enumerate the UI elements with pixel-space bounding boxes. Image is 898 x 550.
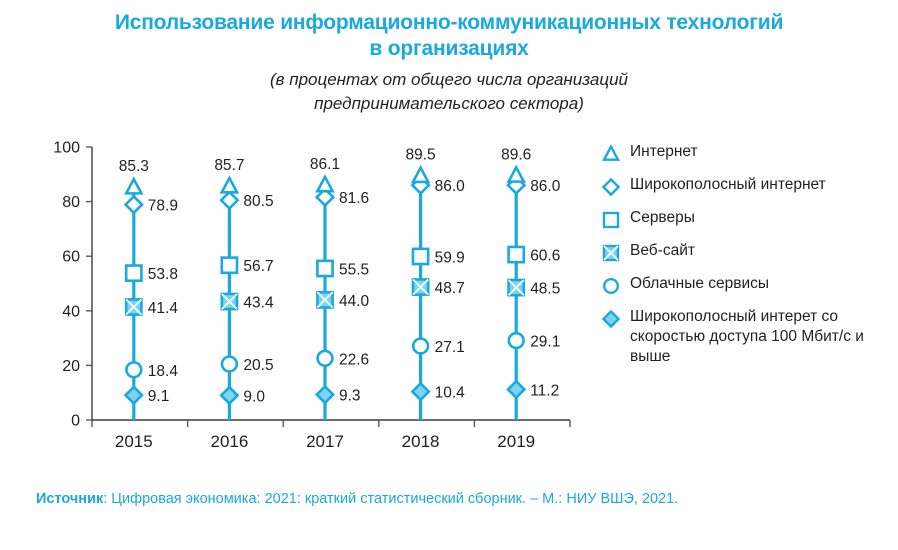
legend-item-label: Облачные сервисы	[630, 274, 769, 294]
legend-item[interactable]: Интернет	[600, 142, 898, 165]
circle-open-icon	[600, 274, 630, 297]
square-open-marker	[604, 213, 618, 227]
data-point-label: 20.5	[243, 357, 273, 374]
data-point-label: 43.4	[243, 295, 274, 312]
data-point-label: 56.7	[243, 258, 273, 275]
chart-legend: ИнтернетШирокополосный интернетСерверыВе…	[600, 142, 898, 377]
data-point-label: 81.6	[339, 190, 369, 207]
legend-item[interactable]: Широкополосный интернет	[600, 175, 898, 198]
square-x-marker	[222, 294, 237, 309]
square-x-marker	[509, 280, 524, 295]
y-axis-tick-label: 100	[53, 140, 80, 157]
data-point-label: 48.7	[435, 280, 465, 297]
legend-item-label: Серверы	[630, 208, 695, 228]
diamond-open-marker	[126, 196, 142, 212]
diamond-open-marker	[221, 192, 237, 208]
data-point-label: 86.1	[310, 156, 340, 173]
y-axis-tick-label: 80	[62, 194, 80, 211]
chart-page: Использование информационно-коммуникацио…	[0, 0, 898, 550]
legend-item-label: Веб-сайт	[630, 241, 695, 261]
page-title: Использование информационно-коммуникацио…	[59, 10, 839, 62]
data-point-label: 29.1	[530, 334, 560, 351]
y-axis-tick-label: 60	[62, 249, 80, 266]
data-point-label: 80.5	[243, 193, 273, 210]
diamond-open-icon	[600, 175, 630, 198]
diamond-open-marker	[603, 179, 618, 194]
circle-open-marker	[604, 279, 618, 293]
triangle-open-marker	[222, 178, 237, 192]
x-axis-category-label: 2017	[306, 432, 344, 451]
data-point-label: 55.5	[339, 261, 369, 278]
diamond-filled-marker	[221, 387, 237, 403]
diamond-filled-icon	[600, 307, 630, 330]
data-point-label: 10.4	[435, 385, 466, 402]
data-point-label: 59.9	[435, 249, 465, 266]
data-point-label: 85.3	[119, 158, 149, 175]
triangle-open-marker	[413, 168, 428, 182]
diamond-filled-marker	[126, 387, 142, 403]
circle-open-marker	[509, 333, 524, 348]
legend-item[interactable]: Широкополосный интерет со скоростью дост…	[600, 307, 898, 367]
legend-item[interactable]: Серверы	[600, 208, 898, 231]
data-point-label: 18.4	[148, 363, 179, 380]
circle-open-marker	[413, 339, 428, 354]
data-point-label: 11.2	[530, 382, 559, 399]
circle-open-marker	[318, 351, 333, 366]
chart-subtitle-line2: предпринимательского сектора)	[314, 94, 584, 113]
source-note: Источник: Цифровая экономика: 2021: крат…	[36, 490, 866, 508]
y-axis-tick-label: 20	[62, 358, 80, 375]
triangle-open-marker	[509, 167, 524, 181]
square-x-marker	[126, 299, 141, 314]
triangle-open-icon	[600, 142, 630, 165]
x-axis-category-label: 2019	[497, 432, 535, 451]
y-axis-tick-label: 40	[62, 303, 80, 320]
circle-open-marker	[222, 357, 237, 372]
data-point-label: 48.5	[530, 281, 560, 298]
data-point-label: 86.0	[435, 178, 466, 195]
legend-item-label: Широкополосный интерет со скоростью дост…	[630, 307, 898, 367]
chart-subtitle-line1: (в процентах от общего числа организаций	[270, 70, 628, 89]
diamond-filled-marker	[412, 383, 428, 399]
triangle-open-marker	[126, 179, 141, 193]
data-point-label: 85.7	[214, 157, 244, 174]
square-open-marker	[222, 258, 237, 273]
y-axis-tick-label: 0	[71, 413, 80, 430]
legend-item[interactable]: Веб-сайт	[600, 241, 898, 264]
square-open-marker	[317, 261, 332, 276]
square-open-marker	[413, 249, 428, 264]
square-open-marker	[509, 247, 524, 262]
diamond-filled-marker	[603, 311, 618, 326]
data-point-label: 9.1	[148, 388, 170, 405]
x-axis-category-label: 2016	[210, 432, 248, 451]
data-point-label: 44.0	[339, 293, 370, 310]
source-label: Источник	[36, 491, 103, 507]
triangle-open-marker	[317, 177, 332, 191]
x-axis-category-label: 2018	[402, 432, 440, 451]
data-point-label: 78.9	[148, 198, 178, 215]
title-block: Использование информационно-коммуникацио…	[0, 0, 898, 116]
square-x-icon	[600, 241, 630, 264]
data-point-label: 86.0	[530, 178, 561, 195]
page-title-line1: Использование информационно-коммуникацио…	[115, 11, 783, 34]
square-x-marker	[604, 246, 618, 260]
data-point-label: 27.1	[435, 339, 465, 356]
source-text: : Цифровая экономика: 2021: краткий стат…	[103, 491, 678, 507]
square-open-marker	[126, 266, 141, 281]
data-point-label: 53.8	[148, 266, 178, 283]
data-point-label: 9.0	[243, 388, 265, 405]
data-point-label: 22.6	[339, 351, 369, 368]
diamond-filled-marker	[508, 381, 524, 397]
square-open-icon	[600, 208, 630, 231]
triangle-open-marker	[604, 147, 618, 160]
circle-open-marker	[126, 362, 141, 377]
chart-subtitle: (в процентах от общего числа организаций…	[99, 68, 799, 116]
data-point-label: 41.4	[148, 300, 179, 317]
square-x-marker	[317, 292, 332, 307]
legend-item-label: Широкополосный интернет	[630, 175, 826, 195]
legend-item-label: Интернет	[630, 142, 698, 162]
data-point-label: 89.6	[501, 146, 531, 163]
x-axis-category-label: 2015	[115, 432, 153, 451]
square-x-marker	[413, 279, 428, 294]
diamond-filled-marker	[317, 386, 333, 402]
legend-item[interactable]: Облачные сервисы	[600, 274, 898, 297]
data-point-label: 89.5	[406, 147, 436, 164]
page-title-line2: в организациях	[369, 37, 528, 60]
data-point-label: 9.3	[339, 388, 361, 405]
data-point-label: 60.6	[530, 248, 560, 265]
